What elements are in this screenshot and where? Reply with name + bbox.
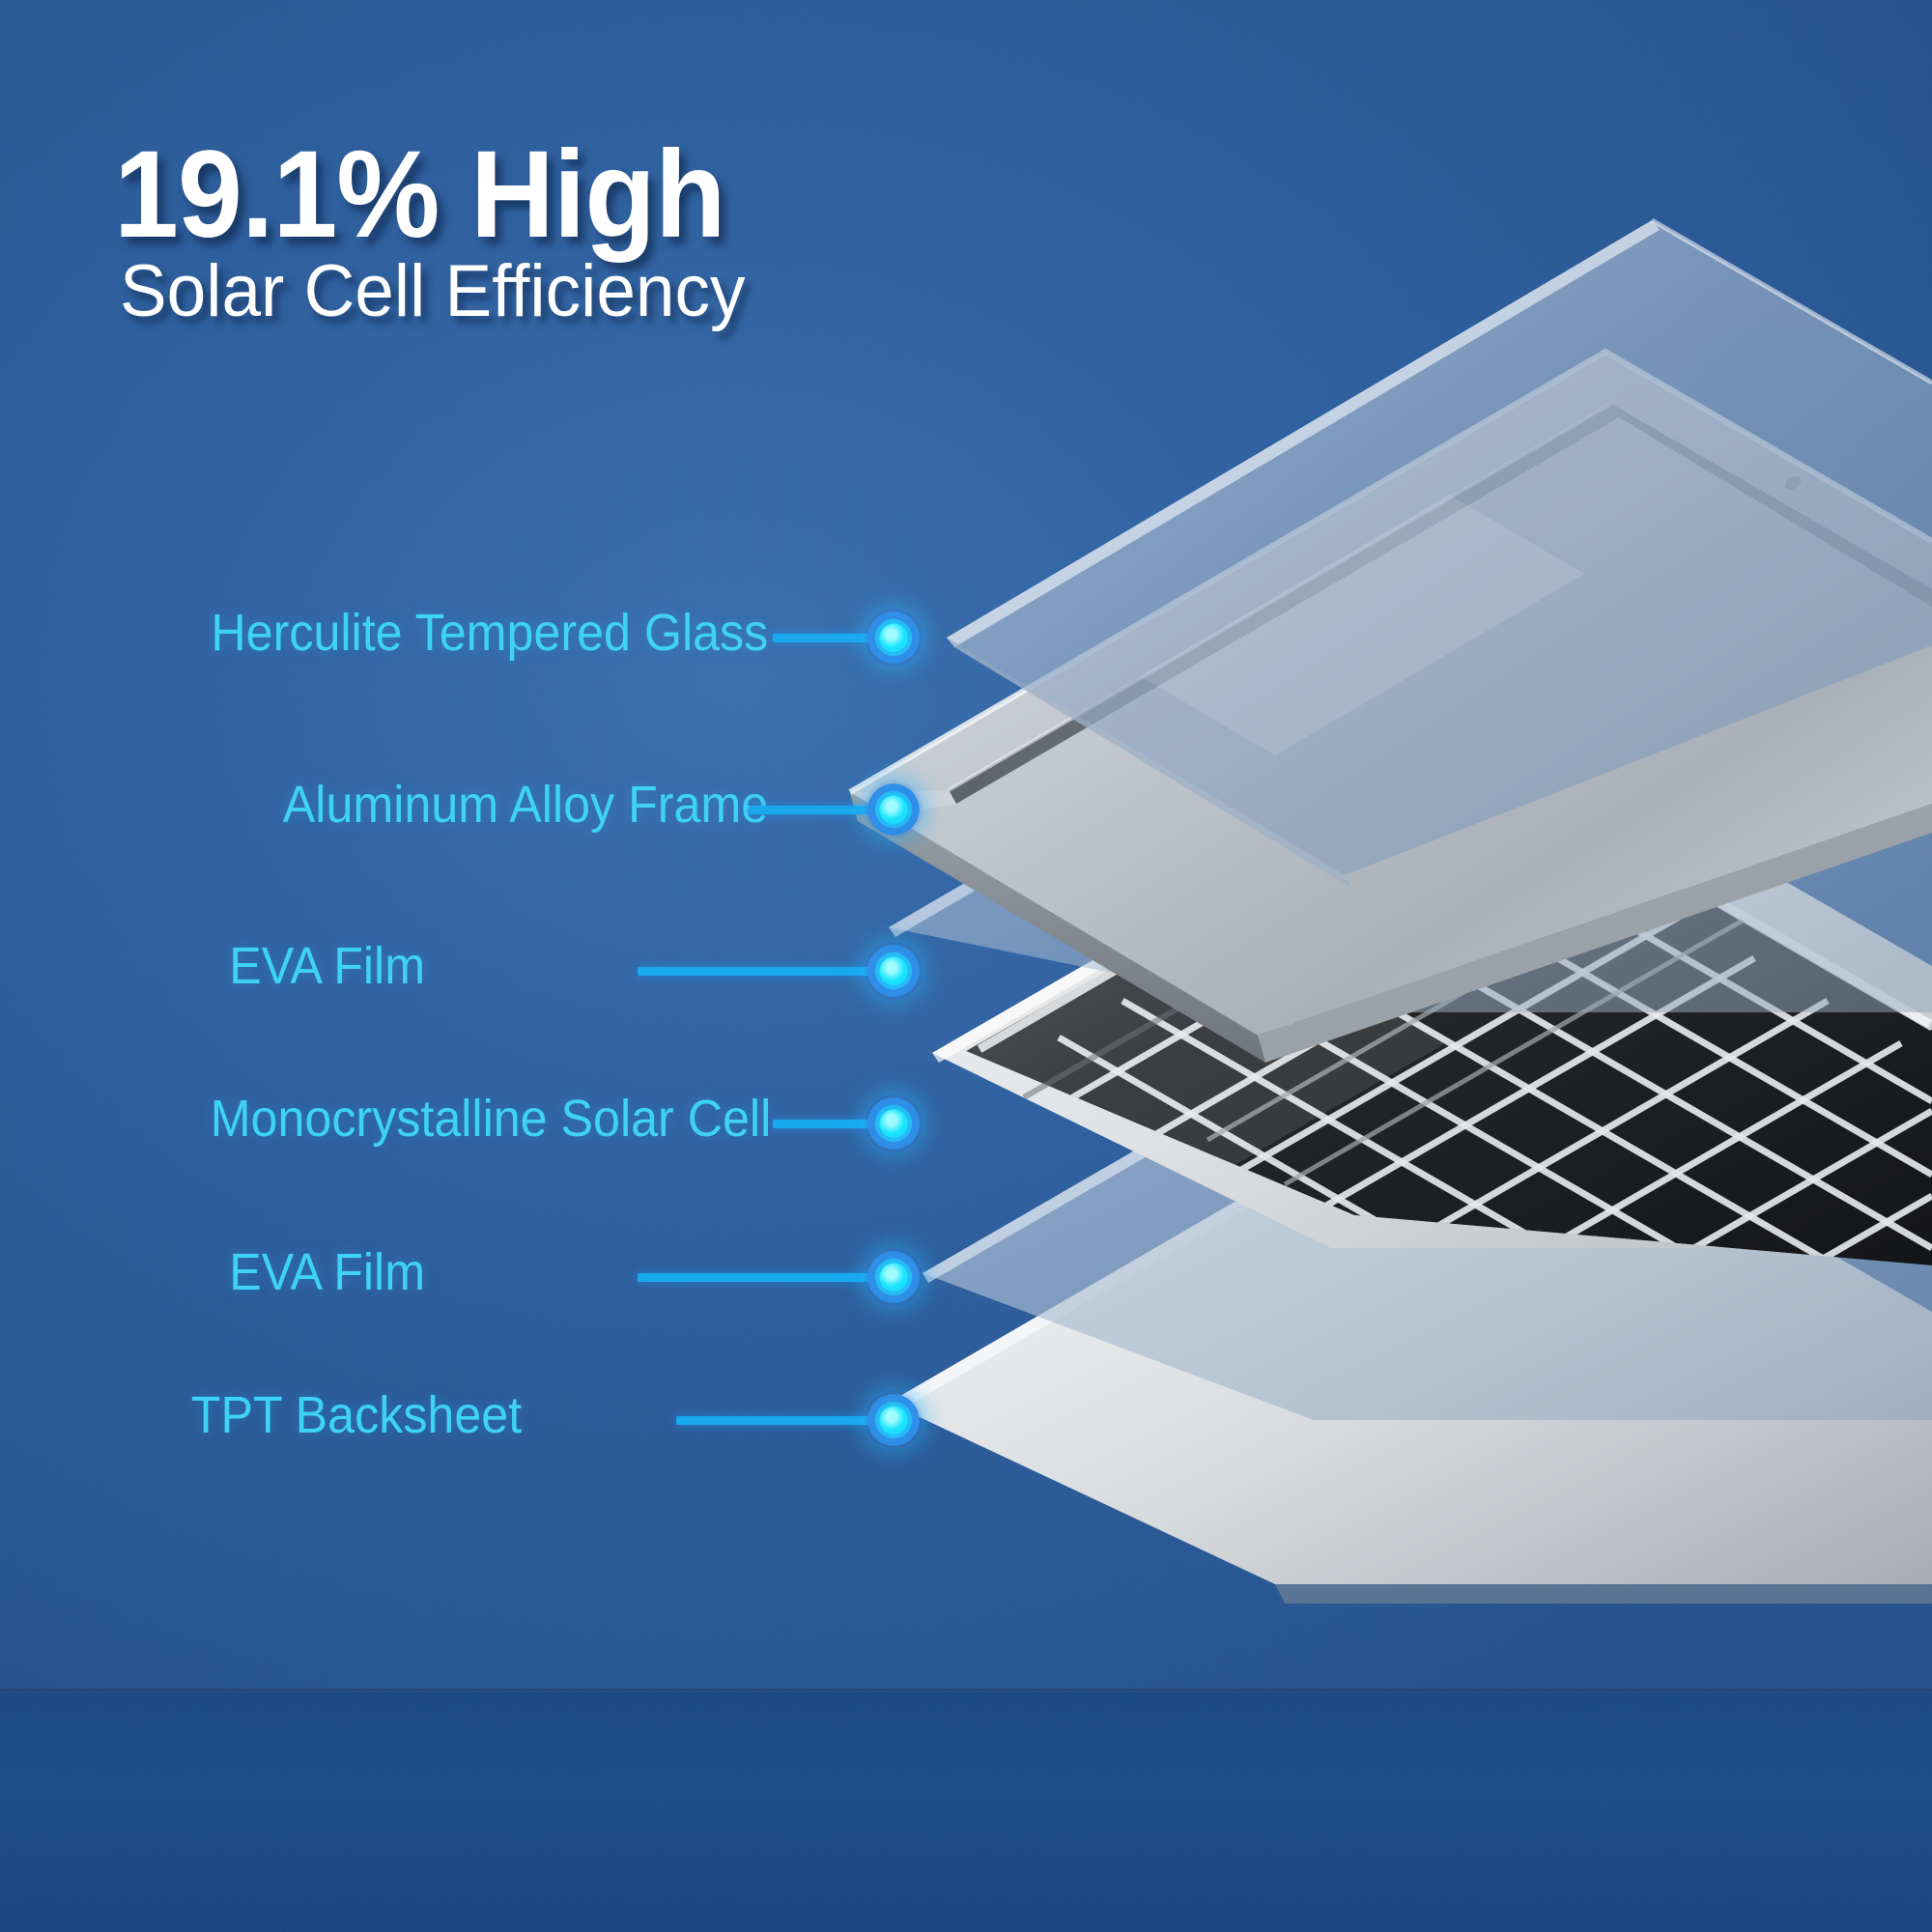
page-subtitle: Solar Cell Efficiency <box>120 249 745 333</box>
callout-marker-dot <box>865 1391 923 1449</box>
callout-marker-dot <box>865 781 923 838</box>
background-lower-texture <box>0 1692 1932 1932</box>
page-headline: 19.1% High <box>114 124 725 266</box>
callout-label: EVA Film <box>229 1242 425 1302</box>
callout-marker-dot <box>865 1248 923 1306</box>
callout-marker-dot <box>865 609 923 667</box>
callout-label: EVA Film <box>229 936 425 996</box>
callout-marker-dot <box>865 1094 923 1152</box>
callout-label: TPT Backsheet <box>191 1385 522 1445</box>
callout-marker-dot <box>865 942 923 1000</box>
callout-label: Monocrystalline Solar Cell <box>210 1089 771 1149</box>
callout-label: Herculite Tempered Glass <box>211 603 768 663</box>
callout-label: Aluminum Alloy Frame <box>283 775 768 835</box>
